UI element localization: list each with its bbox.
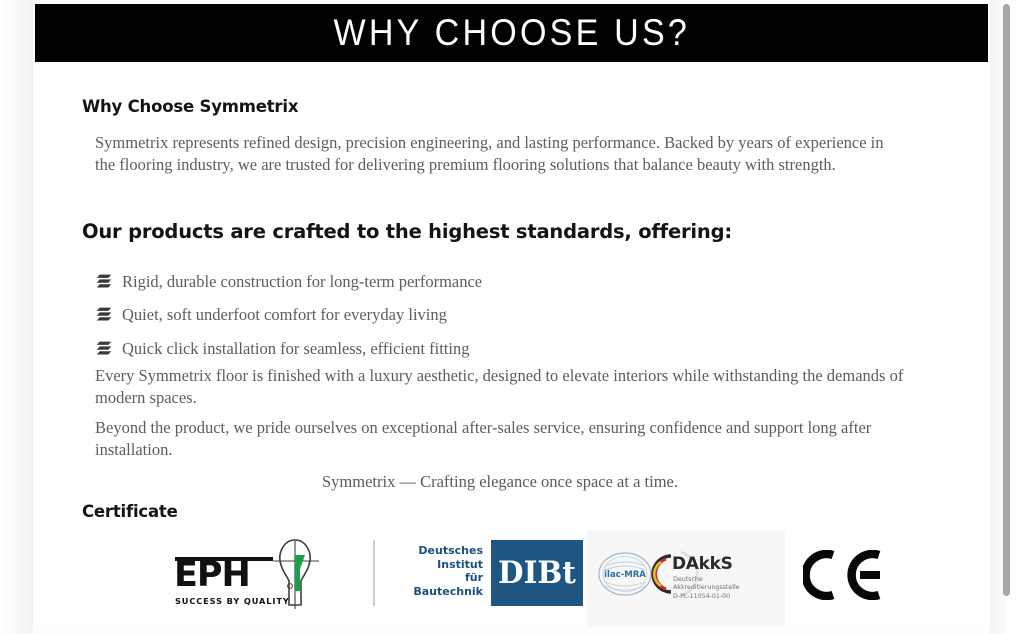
tagline-text: Symmetrix — Crafting elegance once space… [95,471,905,493]
standards-heading: Our products are crafted to the highest … [82,220,732,243]
list-item-label: Quick click installation for seamless, e… [122,339,469,359]
dibt-badge: DIBt [491,540,583,606]
eph-logo: EPH SUCCESS BY QUALITY [173,535,320,613]
svg-text:ilac-MRA: ilac-MRA [604,570,646,580]
stacked-bars-icon [95,341,113,357]
tree-icon [271,535,321,611]
eph-wordmark: EPH [174,557,250,594]
certificate-heading: Certificate [82,502,178,521]
dakks-sub-line-3: D-PL-11054-01-00 [673,593,740,601]
dibt-line-1: Deutsches [391,544,483,558]
ce-mark-icon [803,550,883,600]
vertical-scrollbar[interactable] [1006,0,1018,634]
dibt-logo: Deutsches Institut für Bautechnik DIBt [373,538,573,610]
banner-title: WHY CHOOSE US? [333,12,690,54]
main-content: Why Choose Symmetrix Symmetrix represent… [33,62,990,634]
dakks-sub-line-1: Deutsche [673,576,740,584]
intro-paragraph: Symmetrix represents refined design, pre… [95,132,895,175]
why-choose-heading: Why Choose Symmetrix [82,97,298,116]
dakks-sub-line-2: Akkreditierungsstelle [673,584,740,592]
page-shell: WHY CHOOSE US? Why Choose Symmetrix Symm… [0,0,1024,634]
bottom-strip [33,626,990,634]
stacked-bars-icon [95,307,113,323]
stacked-bars-icon [95,274,113,290]
dibt-divider [373,540,375,606]
ilac-mra-seal-icon: ilac-MRA [597,552,653,596]
service-paragraph: Beyond the product, we pride ourselves o… [95,417,895,460]
dibt-badge-label: DIBt [498,555,576,591]
left-page-gutter [0,0,33,634]
feature-list: Rigid, durable construction for long-ter… [95,265,855,366]
dibt-line-2: Institut [391,558,483,572]
page-banner: WHY CHOOSE US? [35,4,988,62]
dakks-wordmark: DAkkS [672,554,733,574]
list-item: Rigid, durable construction for long-ter… [95,265,855,299]
dibt-line-4: Bautechnik [391,585,483,599]
list-item: Quick click installation for seamless, e… [95,332,855,366]
list-item-label: Quiet, soft underfoot comfort for everyd… [122,305,447,325]
dibt-institute-name: Deutsches Institut für Bautechnik [391,544,483,598]
list-item: Quiet, soft underfoot comfort for everyd… [95,299,855,333]
list-item-label: Rigid, durable construction for long-ter… [122,272,482,292]
scrollbar-thumb[interactable] [1003,4,1010,596]
dakks-logo: ilac-MRA DAkkS Deutsche Akkreditierungss… [587,530,785,626]
certificate-logo-row: EPH SUCCESS BY QUALITY Deutsches Institu… [33,530,990,630]
dakks-subtext: Deutsche Akkreditierungsstelle D-PL-1105… [673,576,740,601]
luxury-paragraph: Every Symmetrix floor is finished with a… [95,365,925,408]
dibt-line-3: für [391,571,483,585]
